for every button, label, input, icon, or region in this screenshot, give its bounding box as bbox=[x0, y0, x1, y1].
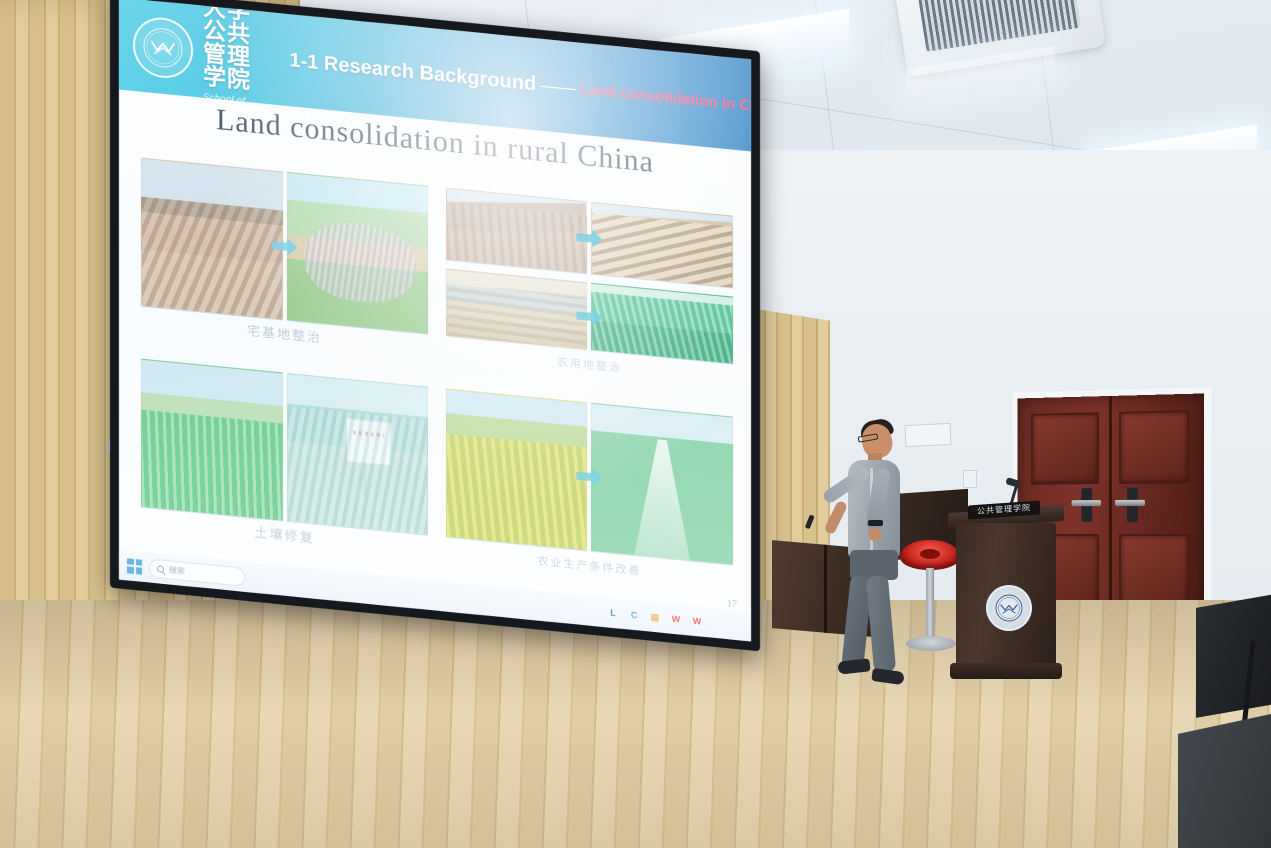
lectern-podium[interactable]: 公共管理学院 bbox=[950, 495, 1062, 685]
door-panel bbox=[1031, 412, 1099, 484]
photo-consolidated-village-aerial: Stage 2 bbox=[287, 172, 429, 335]
quadrant-homestead: Stage 1 Stage 2 宅基地整治 bbox=[141, 148, 428, 358]
presenter-shoe bbox=[837, 658, 870, 674]
taskbar-icon-group: L C ▤ W W bbox=[607, 606, 703, 627]
wall-switch[interactable] bbox=[963, 470, 977, 488]
search-icon bbox=[157, 565, 164, 573]
presenter-hand bbox=[868, 528, 882, 541]
door-handle[interactable] bbox=[1115, 500, 1145, 506]
wristwatch-icon bbox=[868, 520, 883, 526]
field-sign-leg bbox=[364, 464, 366, 497]
before-after-pair: Stage 1 Stage 2 bbox=[446, 388, 733, 566]
guangxi-university-emblem-icon bbox=[133, 15, 193, 81]
av-equipment-rack bbox=[1196, 592, 1271, 718]
stage-label: Stage 2 bbox=[594, 202, 624, 204]
photo-rural-homestead-rubble: Stage 1 bbox=[141, 158, 283, 321]
search-placeholder: 搜索 bbox=[169, 564, 185, 577]
quadrant-soil: Stage 1 Stage 2 土壤修复 bbox=[141, 348, 428, 558]
before-after-pair: Stage 1 Stage 2 bbox=[141, 358, 428, 536]
photo-ox-plowing-paddy: Stage 1 bbox=[446, 268, 588, 351]
stage-label: Stage 1 bbox=[449, 268, 479, 270]
screen-display[interactable]: 广西大学公共管理学院 School of Public Policy and M… bbox=[119, 0, 751, 641]
word-icon[interactable]: W bbox=[670, 613, 682, 626]
quadrant-production-conditions: Stage 1 Stage 2 农业生产条件改善 bbox=[446, 378, 733, 588]
presenter-forearm bbox=[823, 500, 848, 535]
screen-bezel: 广西大学公共管理学院 School of Public Policy and M… bbox=[110, 0, 760, 651]
wps-icon[interactable]: W bbox=[691, 615, 703, 628]
stage-label: Stage 2 bbox=[594, 283, 624, 285]
photo-eroded-hillside: Stage 1 bbox=[446, 188, 588, 275]
stage-label: Stage 2 bbox=[290, 172, 320, 174]
stage-label: Stage 1 bbox=[144, 158, 174, 160]
lecture-hall-scene: 广西大学公共管理学院 School of Public Policy and M… bbox=[0, 0, 1271, 848]
quadrant-farmland: Stage 1 Stage 2 Stage 1 bbox=[446, 178, 733, 388]
presenter-shoe bbox=[871, 668, 904, 685]
windows-start-icon[interactable] bbox=[127, 558, 142, 574]
slide-content-grid: Stage 1 Stage 2 宅基地整治 bbox=[141, 148, 733, 588]
university-name-cn: 广西大学公共管理学院 bbox=[203, 0, 261, 93]
photo-rapeseed-field-dirt-path: Stage 1 bbox=[446, 388, 588, 551]
door-panel bbox=[1119, 410, 1190, 484]
folder-icon[interactable]: ▤ bbox=[649, 610, 661, 623]
podium-base bbox=[950, 663, 1062, 679]
photo-paved-field-road: Stage 2 bbox=[591, 402, 733, 565]
presentation-slide[interactable]: 广西大学公共管理学院 School of Public Policy and M… bbox=[119, 0, 751, 641]
presenter-leg bbox=[866, 575, 896, 673]
field-sign-icon bbox=[346, 418, 391, 467]
stage-label: Stage 2 bbox=[290, 372, 320, 374]
stage-label: Stage 1 bbox=[449, 188, 479, 190]
podium-body bbox=[956, 523, 1056, 671]
photo-remediation-site-with-sign: Stage 2 bbox=[287, 372, 429, 535]
university-emblem-icon bbox=[986, 585, 1032, 631]
projection-screen[interactable]: 广西大学公共管理学院 School of Public Policy and M… bbox=[110, 0, 770, 695]
ac-grille-icon bbox=[918, 0, 1081, 52]
stage-label: Stage 2 bbox=[594, 402, 624, 404]
presenter bbox=[810, 420, 930, 690]
photo-mechanized-green-field: Stage 2 bbox=[591, 283, 733, 366]
section-title: 1-1 Research Background bbox=[289, 49, 536, 96]
qq-icon[interactable]: C bbox=[628, 608, 640, 621]
before-after-pair: Stage 1 Stage 2 bbox=[141, 158, 428, 336]
stage-label: Stage 1 bbox=[449, 388, 479, 390]
wechat-icon[interactable]: L bbox=[607, 606, 619, 619]
stage-label: Stage 1 bbox=[144, 358, 174, 360]
photo-green-paddy-village: Stage 1 bbox=[141, 358, 283, 521]
slide-layout-icon[interactable] bbox=[129, 589, 151, 606]
taskbar-search-input[interactable]: 搜索 bbox=[149, 558, 245, 586]
header-dash: —— bbox=[540, 74, 576, 99]
photo-terraced-fields: Stage 2 bbox=[591, 202, 733, 289]
section-subtitle: Land consolidation in China bbox=[580, 80, 751, 117]
door-handle[interactable] bbox=[1072, 500, 1102, 506]
